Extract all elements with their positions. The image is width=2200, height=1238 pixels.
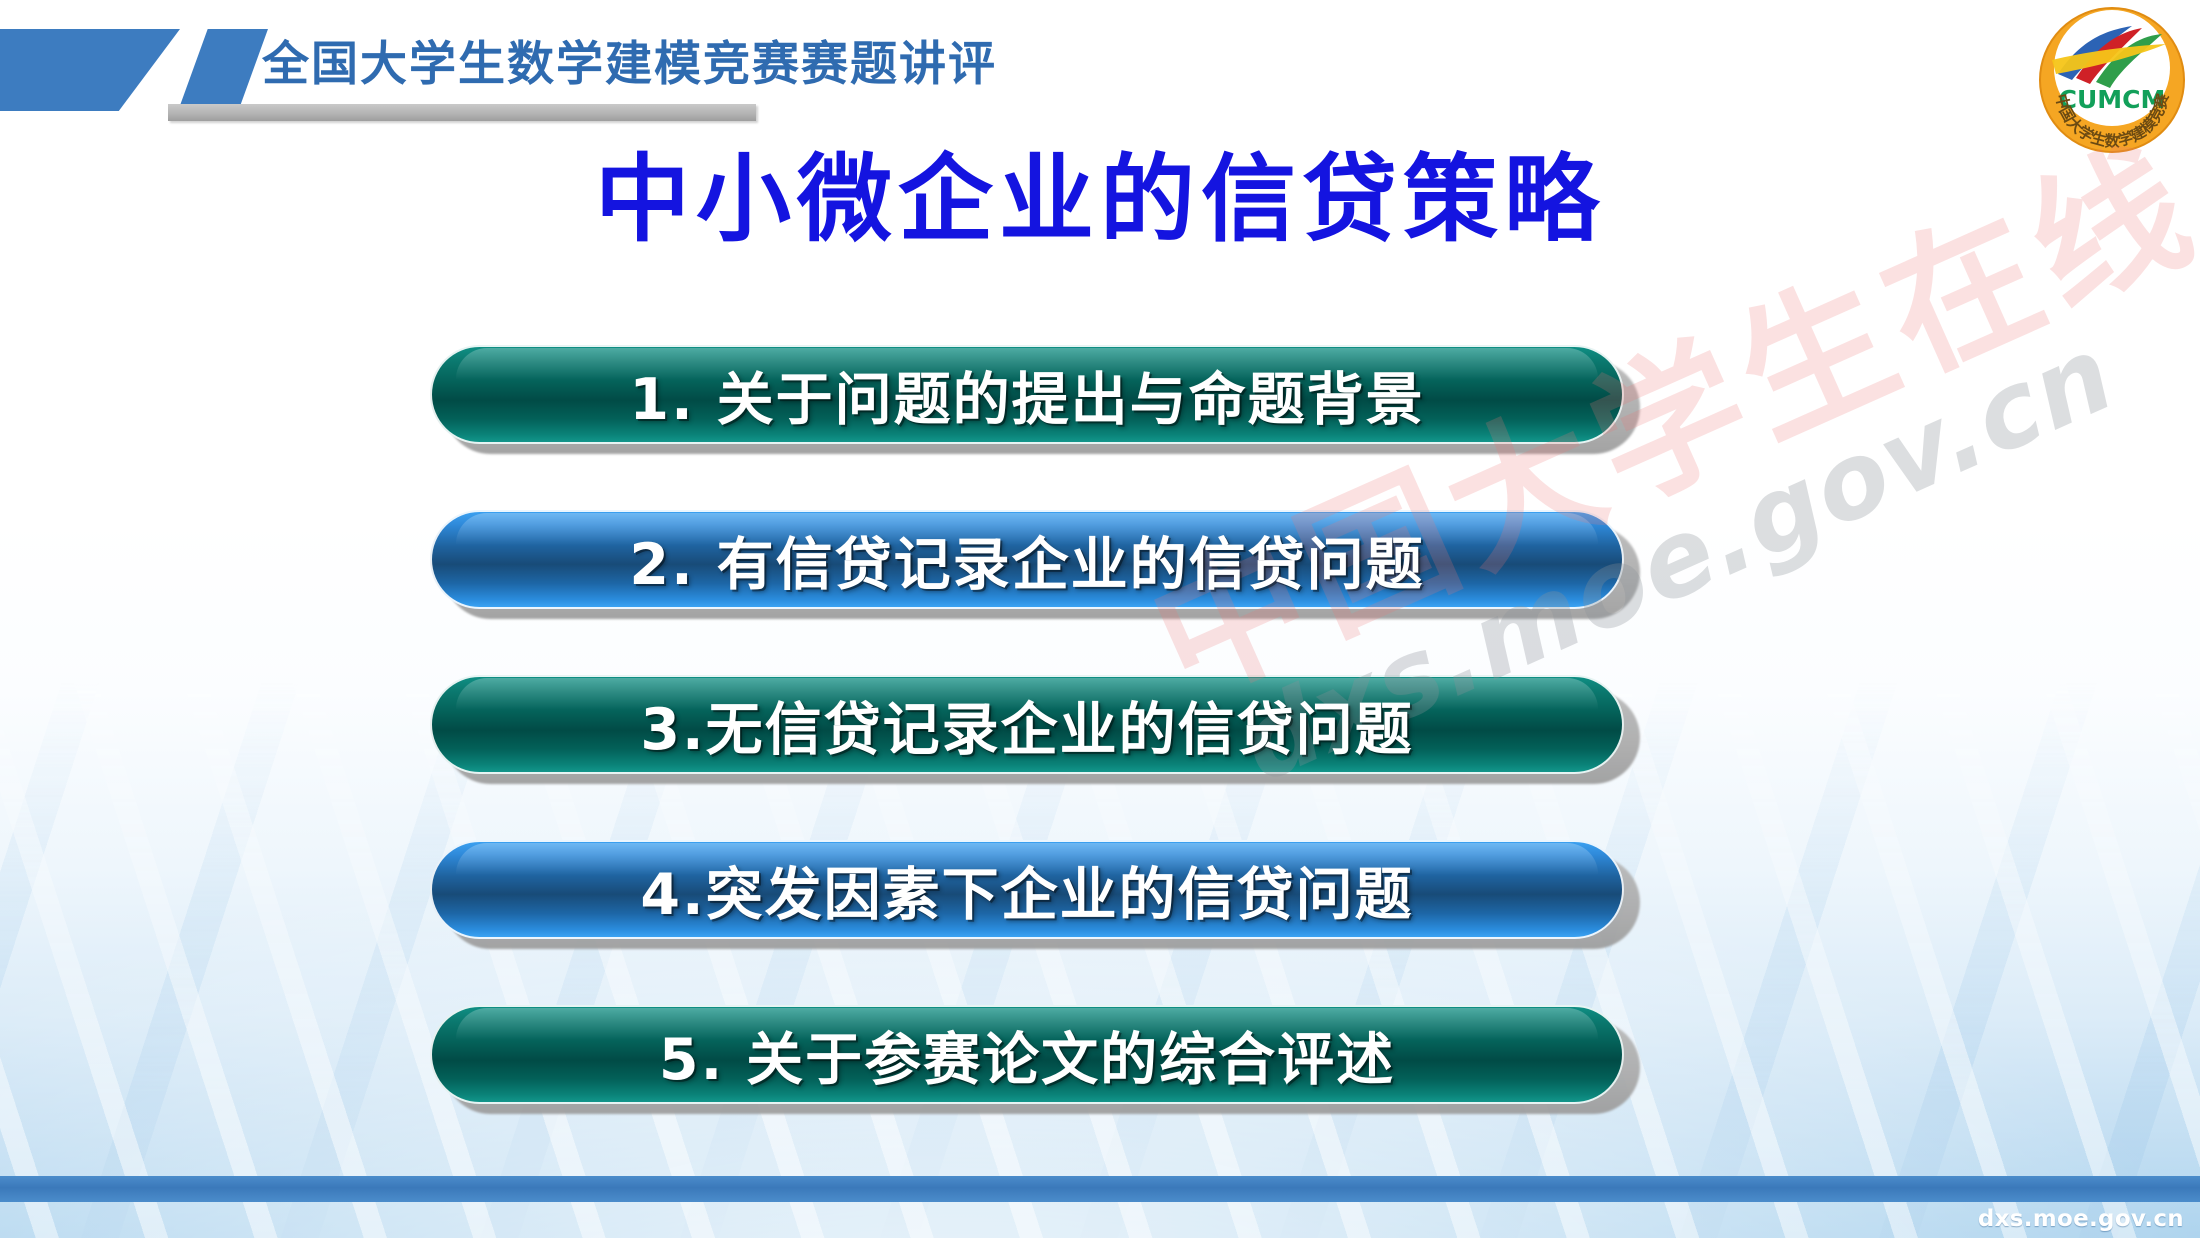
slide-canvas: 全国大学生数学建模竞赛赛题讲评 CUMCM 中国大学生数学建模竞赛 中小微企业的… [0, 0, 2200, 1238]
agenda-list: 1. 关于问题的提出与命题背景 2. 有信贷记录企业的信贷问题 3.无信贷记录企… [430, 345, 1680, 1170]
slide-header: 全国大学生数学建模竞赛赛题讲评 [0, 0, 2200, 150]
agenda-pill[interactable]: 5. 关于参赛论文的综合评述 [430, 1005, 1624, 1104]
footer-url: dxs.moe.gov.cn [1978, 1206, 2184, 1232]
agenda-item-3[interactable]: 3.无信贷记录企业的信贷问题 [430, 675, 1680, 772]
agenda-item-1[interactable]: 1. 关于问题的提出与命题背景 [430, 345, 1680, 442]
agenda-item-2[interactable]: 2. 有信贷记录企业的信贷问题 [430, 510, 1680, 607]
header-title: 全国大学生数学建模竞赛赛题讲评 [262, 28, 997, 102]
agenda-item-label: 4.突发因素下企业的信贷问题 [640, 849, 1413, 931]
header-rule [168, 104, 756, 121]
agenda-item-4[interactable]: 4.突发因素下企业的信贷问题 [430, 840, 1680, 937]
page-title: 中小微企业的信贷策略 [0, 140, 2200, 260]
agenda-pill[interactable]: 3.无信贷记录企业的信贷问题 [430, 675, 1624, 774]
agenda-item-label: 5. 关于参赛论文的综合评述 [659, 1014, 1395, 1096]
agenda-item-label: 3.无信贷记录企业的信贷问题 [640, 684, 1413, 766]
agenda-item-5[interactable]: 5. 关于参赛论文的综合评述 [430, 1005, 1680, 1102]
header-band-large [0, 29, 180, 111]
agenda-item-label: 1. 关于问题的提出与命题背景 [629, 354, 1424, 436]
agenda-pill[interactable]: 2. 有信贷记录企业的信贷问题 [430, 510, 1624, 609]
footer-bar [0, 1176, 2200, 1202]
agenda-item-label: 2. 有信贷记录企业的信贷问题 [629, 519, 1424, 601]
header-band-small [178, 29, 268, 111]
cumcm-logo: CUMCM 中国大学生数学建模竞赛 [2036, 4, 2188, 156]
agenda-pill[interactable]: 4.突发因素下企业的信贷问题 [430, 840, 1624, 939]
agenda-pill[interactable]: 1. 关于问题的提出与命题背景 [430, 345, 1624, 444]
